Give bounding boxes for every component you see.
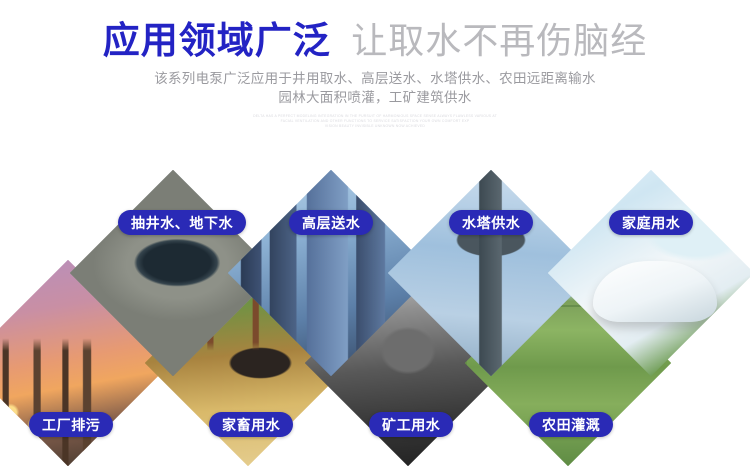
description-line-2: 园林大面积喷灌，工矿建筑供水 [0, 88, 750, 107]
label-well[interactable]: 抽井水、地下水 [118, 210, 246, 235]
page-title: 应用领域广泛 让取水不再伤脑经 [0, 22, 750, 59]
micro-text-line-3: VISION BEAUTY INVISIBLE UNKNOWN NOW ACHI… [0, 124, 750, 129]
label-farm[interactable]: 农田灌溉 [529, 412, 613, 437]
application-fields-banner: 应用领域广泛 让取水不再伤脑经 该系列电泵广泛应用于井用取水、高层送水、水塔供水… [0, 0, 750, 468]
title-primary: 应用领域广泛 [103, 20, 331, 61]
diamond-grid: 抽井水、地下水 高层送水 水塔供水 家庭用水 工厂排污 家畜用水 矿工用水 农田… [0, 150, 750, 468]
description-line-1: 该系列电泵广泛应用于井用取水、高层送水、水塔供水、农田远距离输水 [0, 69, 750, 88]
label-factory[interactable]: 工厂排污 [29, 412, 113, 437]
label-miner[interactable]: 矿工用水 [369, 412, 453, 437]
micro-text-block: DELTA HAS A PERFECT MODELING INTEGRATION… [0, 114, 750, 130]
description-block: 该系列电泵广泛应用于井用取水、高层送水、水塔供水、农田远距离输水 园林大面积喷灌… [0, 69, 750, 107]
label-home[interactable]: 家庭用水 [609, 210, 693, 235]
label-tower[interactable]: 水塔供水 [449, 210, 533, 235]
title-secondary: 让取水不再伤脑经 [351, 20, 647, 61]
label-livestock[interactable]: 家畜用水 [209, 412, 293, 437]
banner-header: 应用领域广泛 让取水不再伤脑经 该系列电泵广泛应用于井用取水、高层送水、水塔供水… [0, 0, 750, 150]
label-skyline[interactable]: 高层送水 [289, 210, 373, 235]
